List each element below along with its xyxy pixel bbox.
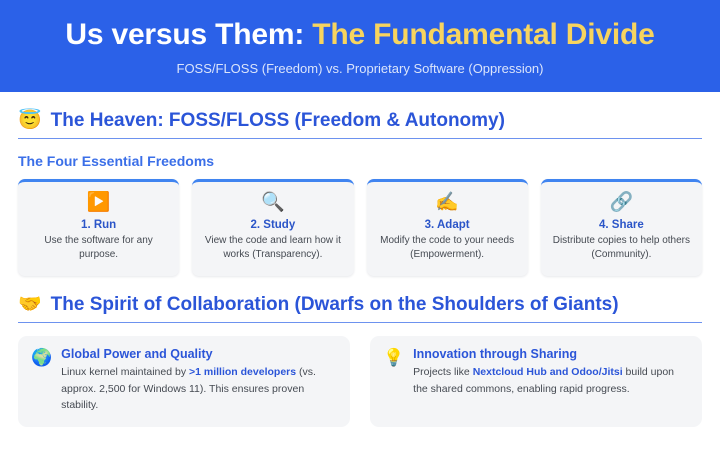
- collab-box-title: Innovation through Sharing: [413, 347, 689, 361]
- freedom-card-title: 4. Share: [550, 219, 693, 231]
- collaboration-box-row: 🌍 Global Power and Quality Linux kernel …: [18, 336, 702, 427]
- collab-box-body: Innovation through Sharing Projects like…: [413, 347, 689, 397]
- freedom-card-row: ▶️ 1. Run Use the software for any purpo…: [18, 179, 702, 275]
- angel-face-icon: 😇: [18, 111, 42, 130]
- freedom-card-title: 1. Run: [27, 219, 170, 231]
- writing-hand-icon: ✍️: [376, 192, 519, 215]
- page-content: 😇 The Heaven: FOSS/FLOSS (Freedom & Auto…: [0, 110, 720, 428]
- collab-box-text: Linux kernel maintained by >1 million de…: [61, 364, 337, 413]
- freedom-card-title: 3. Adapt: [376, 219, 519, 231]
- section-heaven: 😇 The Heaven: FOSS/FLOSS (Freedom & Auto…: [18, 110, 702, 276]
- freedom-card-adapt[interactable]: ✍️ 3. Adapt Modify the code to your need…: [367, 179, 528, 275]
- freedom-card-run[interactable]: ▶️ 1. Run Use the software for any purpo…: [18, 179, 179, 275]
- page-title: Us versus Them: The Fundamental Divide: [20, 18, 700, 52]
- collab-box-global-power[interactable]: 🌍 Global Power and Quality Linux kernel …: [18, 336, 350, 427]
- section-heaven-title: The Heaven: FOSS/FLOSS (Freedom & Autono…: [51, 110, 505, 132]
- freedom-card-study[interactable]: 🔍 2. Study View the code and learn how i…: [192, 179, 353, 275]
- light-bulb-icon: 💡: [383, 347, 404, 368]
- freedom-card-share[interactable]: 🔗 4. Share Distribute copies to help oth…: [541, 179, 702, 275]
- collab-text-part1: Projects like: [413, 366, 473, 378]
- collab-text-highlight: Nextcloud Hub and Odoo/Jitsi: [473, 366, 623, 378]
- collab-box-body: Global Power and Quality Linux kernel ma…: [61, 347, 337, 413]
- collab-box-title: Global Power and Quality: [61, 347, 337, 361]
- section-collaboration-header: 🤝 The Spirit of Collaboration (Dwarfs on…: [18, 294, 702, 324]
- play-button-icon: ▶️: [27, 192, 170, 215]
- section-collaboration-title: The Spirit of Collaboration (Dwarfs on t…: [51, 294, 619, 316]
- collab-text-part1: Linux kernel maintained by: [61, 366, 189, 378]
- freedom-card-desc: Use the software for any purpose.: [27, 234, 170, 262]
- page-title-accent: The Fundamental Divide: [312, 18, 654, 51]
- collab-box-innovation[interactable]: 💡 Innovation through Sharing Projects li…: [370, 336, 702, 427]
- freedom-card-desc: View the code and learn how it works (Tr…: [201, 234, 344, 262]
- collab-box-text: Projects like Nextcloud Hub and Odoo/Jit…: [413, 364, 689, 397]
- four-freedoms-subheading: The Four Essential Freedoms: [18, 153, 702, 169]
- globe-icon: 🌍: [31, 347, 52, 368]
- section-collaboration: 🤝 The Spirit of Collaboration (Dwarfs on…: [18, 294, 702, 428]
- freedom-card-title: 2. Study: [201, 219, 344, 231]
- page-subtitle: FOSS/FLOSS (Freedom) vs. Proprietary Sof…: [20, 61, 700, 76]
- freedom-card-desc: Modify the code to your needs (Empowerme…: [376, 234, 519, 262]
- collab-text-highlight: >1 million developers: [189, 366, 296, 378]
- section-heaven-header: 😇 The Heaven: FOSS/FLOSS (Freedom & Auto…: [18, 110, 702, 140]
- magnifying-glass-icon: 🔍: [201, 192, 344, 215]
- header-banner: Us versus Them: The Fundamental Divide F…: [0, 0, 720, 92]
- freedom-card-desc: Distribute copies to help others (Commun…: [550, 234, 693, 262]
- link-icon: 🔗: [550, 192, 693, 215]
- page-title-plain: Us versus Them:: [65, 18, 312, 51]
- handshake-icon: 🤝: [18, 295, 42, 314]
